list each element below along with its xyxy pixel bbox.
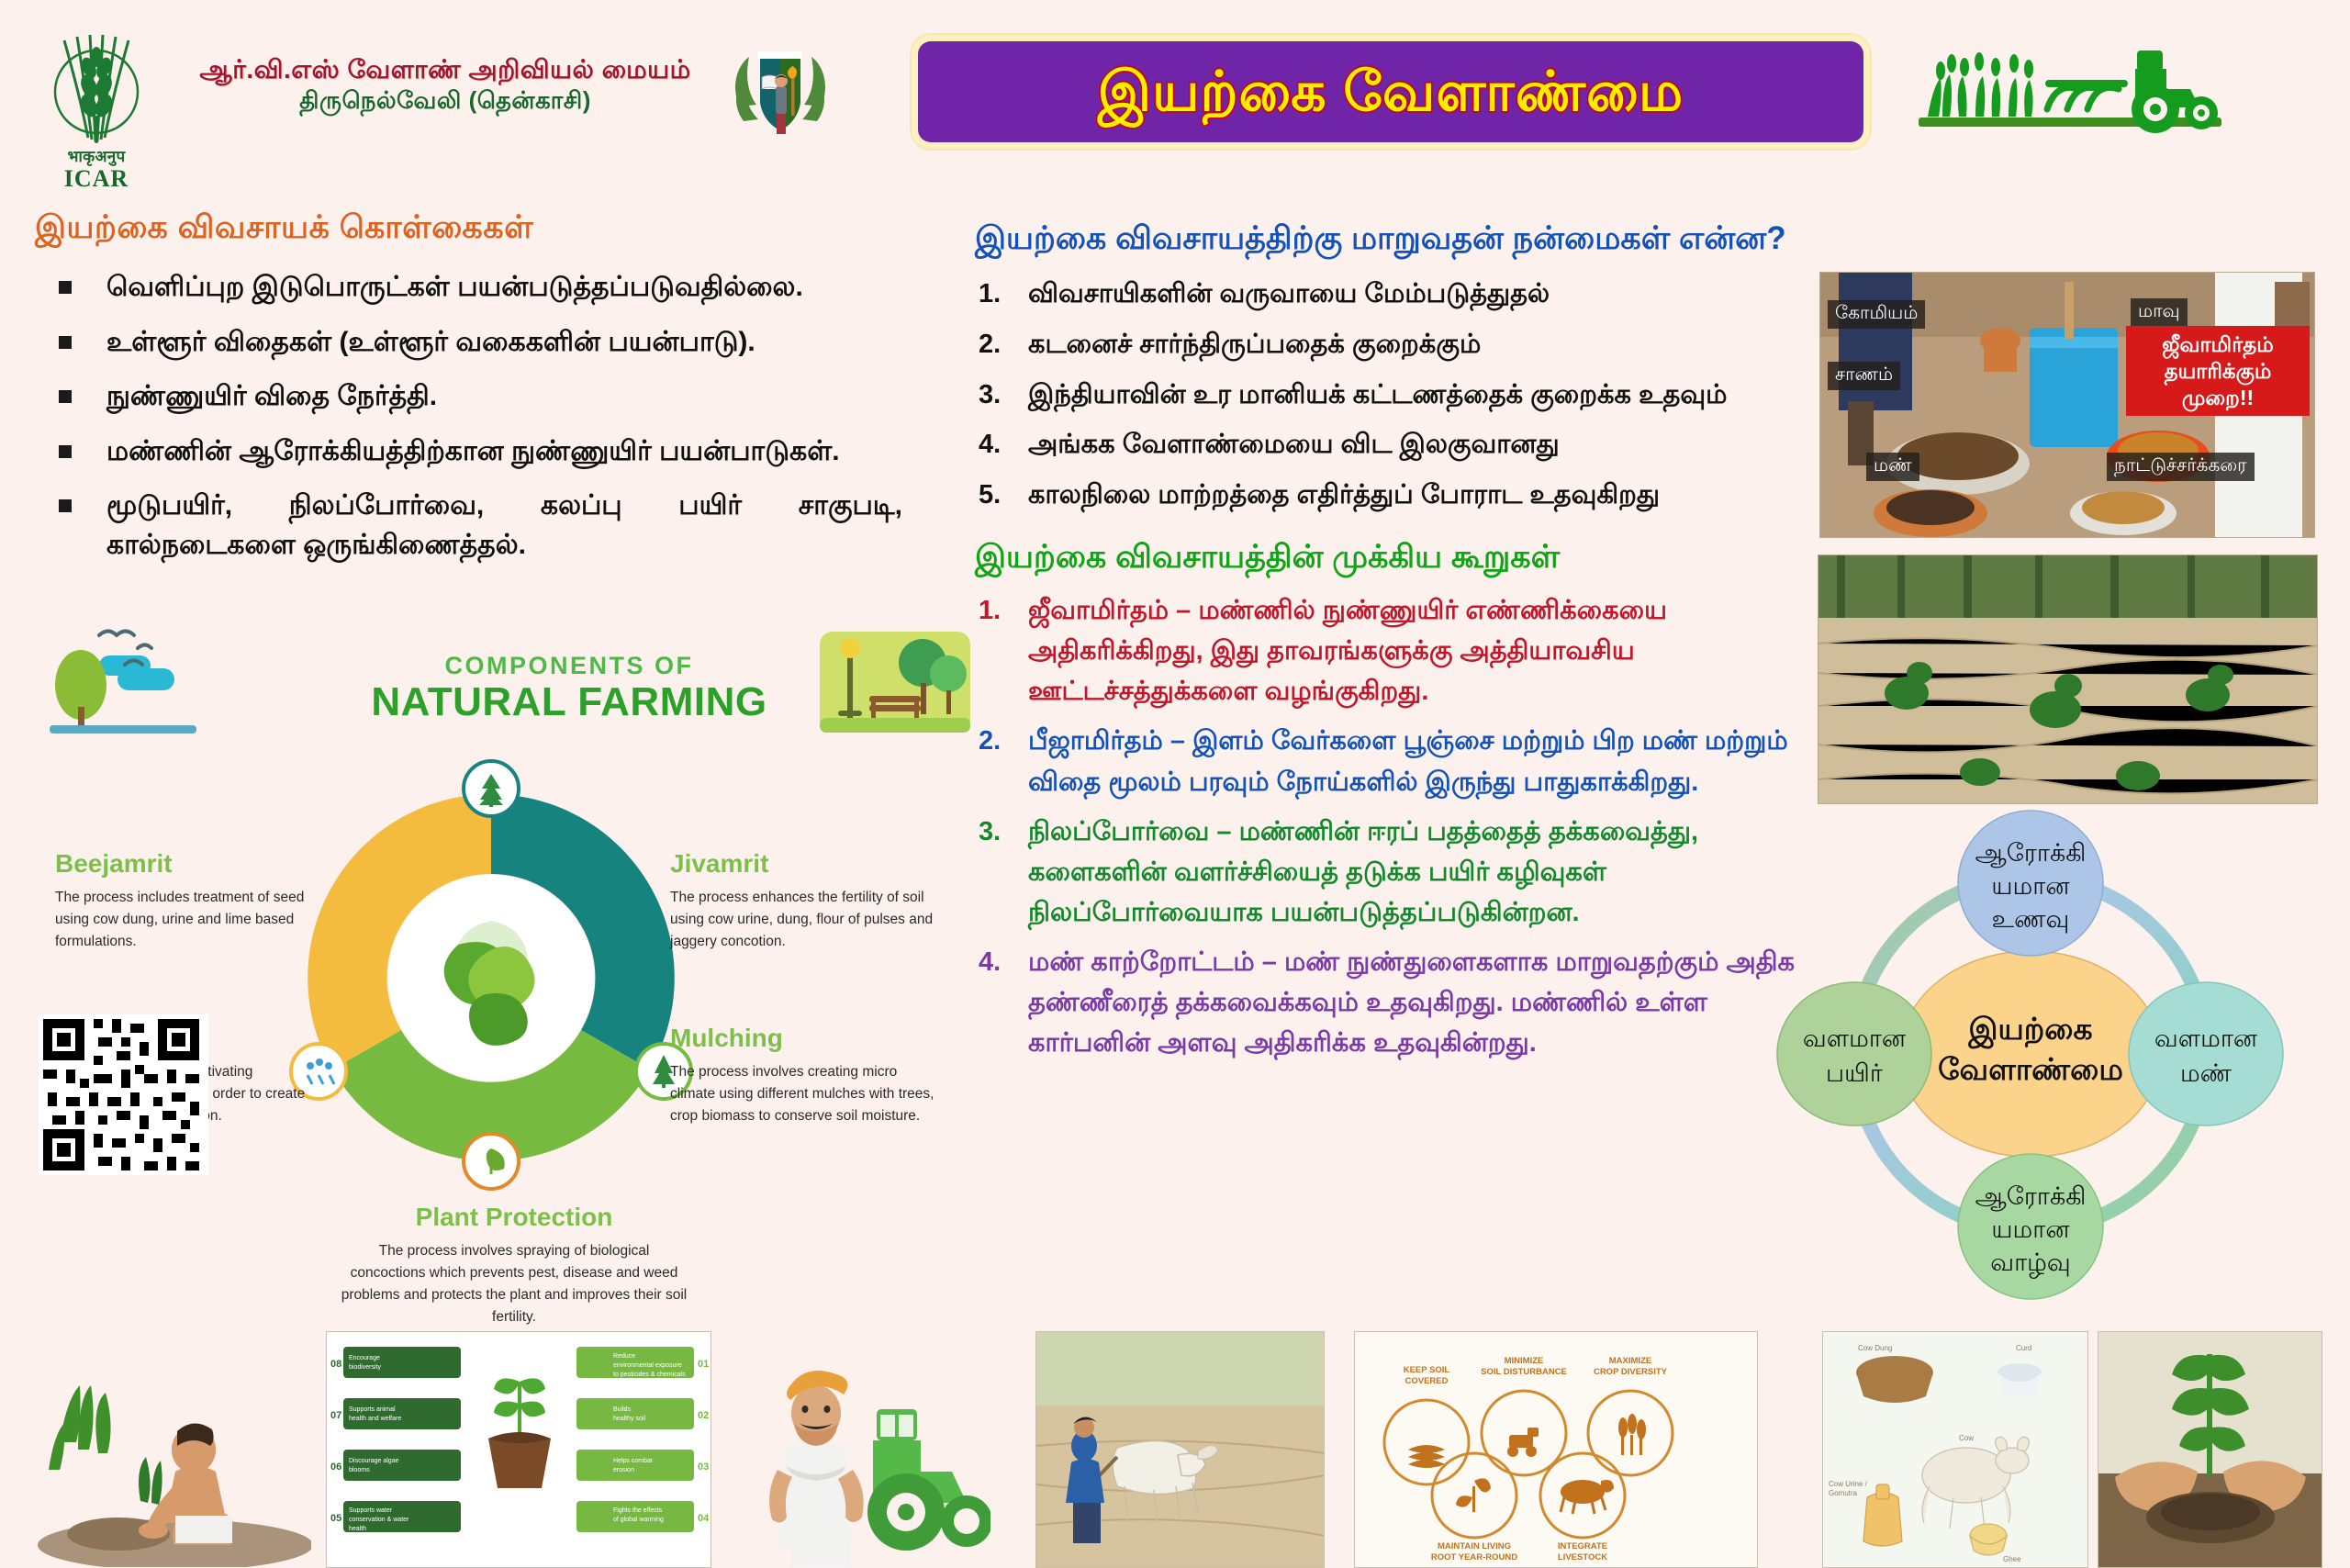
park-bench-lamp-icon <box>812 615 978 748</box>
svg-text:Cow Dung: Cow Dung <box>1858 1344 1892 1352</box>
soil-health-benefits-chart: Encouragebiodiversity Supports animalhea… <box>326 1331 711 1568</box>
svg-text:Discourage algae: Discourage algae <box>349 1458 399 1464</box>
list-item: 2.பீஜாமிர்தம் – இளம் வேர்களை பூஞ்சை மற்ற… <box>975 721 1819 801</box>
svg-text:INTEGRATE: INTEGRATE <box>1558 1541 1607 1551</box>
list-number: 3. <box>979 812 1001 852</box>
bullet-square-icon <box>59 390 72 403</box>
list-item-label: மூடுபயிர், நிலப்போர்வை, கலப்பு பயிர் சாக… <box>106 490 902 560</box>
svg-text:08: 08 <box>330 1359 341 1370</box>
list-number: 5. <box>979 476 1001 515</box>
svg-text:உணவு: உணவு <box>1992 905 2070 933</box>
list-number: 2. <box>979 721 1001 761</box>
principles-list: வெளிப்புற இடுபொருட்கள் பயன்படுத்தப்படுவத… <box>35 268 953 566</box>
svg-text:வளமான: வளமான <box>1803 1025 1906 1052</box>
list-item: உள்ளூர் விதைகள் (உள்ளூர் வகைகளின் பயன்பா… <box>35 323 902 363</box>
poster-title-banner: இயற்கை வேளாண்மை <box>918 41 1863 142</box>
svg-text:Supports animal: Supports animal <box>349 1406 396 1413</box>
natural-farming-cycle-diagram: இயற்கை வேளாண்மை ஆரோக்கி யமான உணவு வளமான … <box>1709 808 2350 1304</box>
svg-text:Ghee: Ghee <box>2003 1555 2021 1563</box>
component-description: The process enhances the fertility of so… <box>670 887 946 953</box>
svg-text:Cow: Cow <box>1959 1434 1974 1442</box>
benefits-list: 1.விவசாயிகளின் வருவாயை மேம்படுத்துதல் 2.… <box>975 274 1847 516</box>
svg-text:environmental exposure: environmental exposure <box>613 1362 682 1369</box>
principles-heading: இயற்கை விவசாயக் கொள்கைகள் <box>35 209 953 250</box>
bullet-square-icon <box>59 499 72 512</box>
poster-canvas: भाकृअनुप ICAR ஆர்.வி.எஸ் வேளாண் அறிவியல்… <box>0 0 2350 1568</box>
list-item-label: உள்ளூர் விதைகள் (உள்ளூர் வகைகளின் பயன்பா… <box>106 327 755 357</box>
list-number: 1. <box>979 274 1001 314</box>
list-item: 4.மண் காற்றோட்டம் – மண் நுண்துளைகளாக மாற… <box>975 942 1819 1063</box>
svg-text:Cow Urine /: Cow Urine / <box>1829 1480 1868 1488</box>
svg-text:MAINTAIN LIVING: MAINTAIN LIVING <box>1438 1541 1511 1551</box>
svg-text:healthy soil: healthy soil <box>613 1416 645 1422</box>
photo-caption: மாவு <box>2131 298 2188 327</box>
component-plant-protection: Plant Protection The process involves sp… <box>340 1203 688 1328</box>
svg-text:health and welfare: health and welfare <box>349 1416 401 1422</box>
bottom-image-strip: Encouragebiodiversity Supports animalhea… <box>0 1331 2350 1568</box>
page-title: இயற்கை வேளாண்மை <box>1098 64 1684 119</box>
svg-text:MAXIMIZE: MAXIMIZE <box>1609 1356 1651 1366</box>
svg-text:Helps combat: Helps combat <box>613 1458 653 1464</box>
bullet-square-icon <box>59 445 72 458</box>
photo-caption: சாணம் <box>1828 362 1900 390</box>
svg-text:07: 07 <box>330 1410 341 1421</box>
list-item-label: நிலப்போர்வை – மண்ணின் ஈரப் பதத்தைத் தக்க… <box>1028 817 1698 927</box>
svg-text:Reduce: Reduce <box>613 1353 635 1360</box>
list-item-label: அங்கக வேளாண்மையை விட இலகுவானது <box>1028 430 1560 459</box>
list-item: 3.நிலப்போர்வை – மண்ணின் ஈரப் பதத்தைத் தக… <box>975 812 1819 933</box>
svg-text:Encourage: Encourage <box>349 1355 380 1361</box>
list-item-label: மண் காற்றோட்டம் – மண் நுண்துளைகளாக மாறுவ… <box>1028 947 1795 1058</box>
component-name: Plant Protection <box>340 1203 688 1232</box>
university-crest-icon <box>725 35 835 147</box>
hands-planting-sapling-photo <box>2098 1331 2322 1568</box>
component-description: The process involves creating micro clim… <box>670 1061 946 1127</box>
list-number: 2. <box>979 325 1001 364</box>
svg-text:Supports water: Supports water <box>349 1507 393 1514</box>
svg-text:இயற்கை: இயற்கை <box>1967 1012 2092 1049</box>
component-name: Jivamrit <box>670 849 946 879</box>
tractor-and-crops-icon <box>1919 32 2221 138</box>
list-number: 4. <box>979 942 1001 982</box>
svg-text:COVERED: COVERED <box>1405 1376 1449 1386</box>
kvk-title: ஆர்.வி.எஸ் வேளாண் அறிவியல் மையம் <box>161 50 730 89</box>
component-name: Beejamrit <box>55 849 330 879</box>
svg-text:மண்: மண் <box>2180 1059 2232 1087</box>
qr-code-icon[interactable] <box>39 1014 208 1175</box>
svg-text:Gomutra: Gomutra <box>1829 1489 1858 1497</box>
list-item-label: இந்தியாவின் உர மானியக் கட்டணத்தைக் குறைக… <box>1028 380 1727 409</box>
svg-text:Fights the effects: Fights the effects <box>613 1507 663 1514</box>
component-jivamrit: Jivamrit The process enhances the fertil… <box>670 849 946 953</box>
jivamrit-preparation-photo: கோமியம் மாவு சாணம் மண் நாட்டுச்சர்க்கரை … <box>1819 272 2315 538</box>
svg-text:KEEP SOIL: KEEP SOIL <box>1404 1365 1450 1375</box>
svg-text:erosion: erosion <box>613 1467 634 1473</box>
component-description: The process involves spraying of biologi… <box>340 1240 688 1328</box>
jivamrit-badge: ஜீவாமிர்தம் தயாரிக்கும் முறை!! <box>2126 326 2310 416</box>
svg-text:to pesticides & chemicals: to pesticides & chemicals <box>613 1372 686 1378</box>
kvk-subtitle: திருநெல்வேலி (தென்காசி) <box>161 86 730 118</box>
list-item: 3.இந்தியாவின் உர மானியக் கட்டணத்தைக் குற… <box>975 375 1847 415</box>
cow-dung-products-diagram: Cow DungCurd CowCow Urine /Gomutra Ghee <box>1822 1331 2088 1568</box>
svg-text:ROOT YEAR-ROUND: ROOT YEAR-ROUND <box>1431 1552 1517 1562</box>
list-item: மூடுபயிர், நிலப்போர்வை, கலப்பு பயிர் சாக… <box>35 487 902 565</box>
svg-text:of global warming: of global warming <box>613 1517 664 1523</box>
svg-text:LIVESTOCK: LIVESTOCK <box>1558 1552 1607 1562</box>
svg-text:01: 01 <box>698 1359 709 1370</box>
component-beejamrit: Beejamrit The process includes treatment… <box>55 849 330 953</box>
components-title-big: NATURAL FARMING <box>349 679 789 725</box>
svg-text:blooms: blooms <box>349 1467 370 1473</box>
list-item: 1.விவசாயிகளின் வருவாயை மேம்படுத்துதல் <box>975 274 1847 314</box>
list-item-label: மண்ணின் ஆரோக்கியத்திற்கான நுண்ணுயிர் பயன… <box>106 436 840 466</box>
list-item: 1.ஜீவாமிர்தம் – மண்ணில் நுண்ணுயிர் எண்ணி… <box>975 590 1819 711</box>
list-item-label: பீஜாமிர்தம் – இளம் வேர்களை பூஞ்சை மற்றும… <box>1028 726 1788 796</box>
list-item: வெளிப்புற இடுபொருட்கள் பயன்படுத்தப்படுவத… <box>35 268 902 308</box>
list-item-label: ஜீவாமிர்தம் – மண்ணில் நுண்ணுயிர் எண்ணிக்… <box>1028 596 1667 706</box>
list-item-label: வெளிப்புற இடுபொருட்கள் பயன்படுத்தப்படுவத… <box>106 272 803 302</box>
svg-text:03: 03 <box>698 1462 709 1473</box>
mulched-field-photo <box>1818 554 2318 804</box>
photo-caption: கோமியம் <box>1828 300 1925 329</box>
list-item-label: காலநிலை மாற்றத்தை எதிர்த்துப் போராட உதவு… <box>1028 480 1660 510</box>
svg-text:வாழ்வு: வாழ்வு <box>1990 1249 2071 1279</box>
svg-text:06: 06 <box>330 1462 341 1473</box>
svg-text:04: 04 <box>698 1513 710 1524</box>
list-number: 1. <box>979 590 1001 631</box>
list-number: 4. <box>979 425 1001 465</box>
components-title-small: COMPONENTS OF <box>386 652 753 680</box>
tree-with-birds-icon <box>46 615 202 734</box>
svg-text:ஆரோக்கி: ஆரோக்கி <box>1975 1182 2087 1212</box>
svg-text:biodiversity: biodiversity <box>349 1364 382 1371</box>
farmer-planting-paddy-photo <box>37 1331 312 1568</box>
poster-header: भाकृअनुप ICAR ஆர்.வி.எஸ் வேளாண் அறிவியல்… <box>0 0 2350 211</box>
svg-text:யமான: யமான <box>1991 872 2069 900</box>
svg-text:SOIL DISTURBANCE: SOIL DISTURBANCE <box>1481 1367 1567 1377</box>
bullet-square-icon <box>59 336 72 349</box>
components-of-natural-farming-diagram: COMPONENTS OF NATURAL FARMING <box>28 606 991 1331</box>
svg-text:யமான: யமான <box>1991 1215 2069 1243</box>
icar-hindi-label: भाकृअनुप <box>37 145 156 166</box>
list-item: மண்ணின் ஆரோக்கியத்திற்கான நுண்ணுயிர் பயன… <box>35 432 902 472</box>
list-item: நுண்ணுயிர் விதை நேர்த்தி. <box>35 377 902 417</box>
svg-text:CROP DIVERSITY: CROP DIVERSITY <box>1594 1367 1668 1377</box>
list-number: 3. <box>979 375 1001 415</box>
key-components-heading: இயற்கை விவசாயத்தின் முக்கிய கூறுகள் <box>975 539 1847 579</box>
component-name: Mulching <box>670 1024 946 1053</box>
svg-text:வளமான: வளமான <box>2154 1025 2257 1052</box>
svg-text:MINIMIZE: MINIMIZE <box>1505 1356 1544 1366</box>
icar-logo: भाकृअनुप ICAR <box>37 28 156 188</box>
wheat-sheaf-icon <box>37 28 156 149</box>
icar-english-label: ICAR <box>37 165 156 193</box>
svg-text:ஆரோக்கி: ஆரோக்கி <box>1975 839 2087 868</box>
list-item-label: கடனைச் சார்ந்திருப்பதைக் குறைக்கும் <box>1028 330 1481 359</box>
component-description: The process includes treatment of seed u… <box>55 887 330 953</box>
photo-caption: நாட்டுச்சர்க்கரை <box>2107 453 2255 481</box>
svg-text:02: 02 <box>698 1410 709 1421</box>
svg-text:வேளாண்மை: வேளாண்மை <box>1938 1052 2123 1086</box>
svg-text:05: 05 <box>330 1513 341 1524</box>
four-principles-circles-diagram: KEEP SOILCOVERED MINIMIZESOIL DISTURBANC… <box>1354 1331 1758 1568</box>
bullock-ploughing-photo <box>1035 1331 1325 1568</box>
svg-text:Curd: Curd <box>2016 1344 2031 1352</box>
benefits-heading: இயற்கை விவசாயத்திற்கு மாறுவதன் நன்மைகள் … <box>975 216 1847 262</box>
component-mulching: Mulching The process involves creating m… <box>670 1024 946 1127</box>
list-item: 5.காலநிலை மாற்றத்தை எதிர்த்துப் போராட உத… <box>975 476 1847 515</box>
left-column: இயற்கை விவசாயக் கொள்கைகள் வெளிப்புற இடுப… <box>35 209 953 581</box>
photo-caption: மண் <box>1866 453 1919 481</box>
list-item-label: நுண்ணுயிர் விதை நேர்த்தி. <box>106 381 437 411</box>
bullet-square-icon <box>59 281 72 294</box>
tri-ring-graphic <box>262 748 721 1207</box>
svg-text:பயிர்: பயிர் <box>1826 1059 1883 1087</box>
svg-text:conservation & water: conservation & water <box>349 1517 409 1523</box>
svg-text:Builds: Builds <box>613 1406 632 1413</box>
list-item: 4.அங்கக வேளாண்மையை விட இலகுவானது <box>975 425 1847 465</box>
list-item: 2.கடனைச் சார்ந்திருப்பதைக் குறைக்கும் <box>975 325 1847 364</box>
svg-text:health: health <box>349 1526 366 1532</box>
list-item-label: விவசாயிகளின் வருவாயை மேம்படுத்துதல் <box>1028 279 1550 308</box>
farmer-with-tractor-illustration <box>725 1331 991 1568</box>
